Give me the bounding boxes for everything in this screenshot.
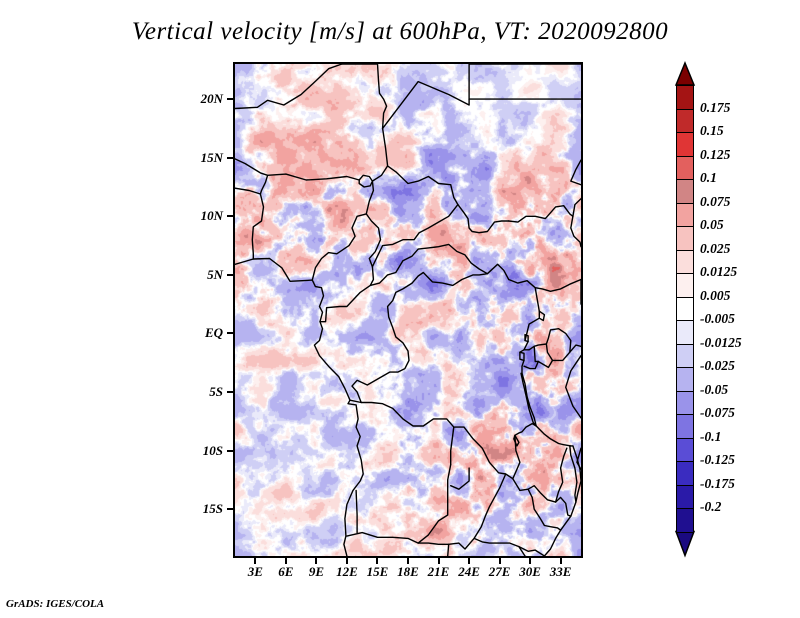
colorbar-tick-label: 0.075	[700, 194, 730, 210]
colorbar-tick-label: 0.05	[700, 217, 724, 233]
country-borders-overlay	[235, 64, 581, 556]
colorbar-tick-label: -0.2	[700, 499, 721, 515]
y-tick-mark	[227, 98, 233, 100]
border-path	[509, 206, 573, 222]
border-path	[418, 465, 451, 543]
border-path	[312, 214, 366, 280]
border-path	[451, 427, 454, 465]
colorbar-swatch[interactable]	[676, 344, 694, 369]
colorbar-tick-label: -0.005	[700, 311, 735, 327]
border-path	[350, 400, 520, 490]
y-tick-label: 15N	[181, 150, 223, 166]
border-path	[521, 373, 536, 426]
border-path	[356, 490, 357, 532]
colorbar-swatch[interactable]	[676, 461, 694, 486]
x-tick-mark	[529, 558, 531, 564]
colorbar-tick-label: 0.15	[700, 123, 724, 139]
border-path	[522, 360, 524, 373]
x-tick-label: 33E	[539, 564, 583, 580]
border-path	[520, 486, 571, 517]
colorbar-swatch[interactable]	[676, 438, 694, 463]
colorbar-swatch[interactable]	[676, 508, 694, 533]
border-path	[370, 244, 508, 285]
colorbar-swatch[interactable]	[676, 391, 694, 416]
border-path	[571, 160, 581, 185]
colorbar-tick-label: 0.125	[700, 147, 730, 163]
colorbar-tick-label: -0.175	[700, 476, 735, 492]
colorbar-tick-label: -0.025	[700, 358, 735, 374]
colorbar-tick-label: 0.1	[700, 170, 717, 186]
colorbar-tick-label: -0.125	[700, 452, 735, 468]
y-tick-label: 20N	[181, 91, 223, 107]
y-tick-mark	[227, 157, 233, 159]
border-path	[535, 288, 539, 312]
colorbar-tick-label: 0.0125	[700, 264, 737, 280]
colorbar-swatch[interactable]	[676, 250, 694, 275]
border-path	[538, 360, 552, 367]
y-tick-label: 10N	[181, 208, 223, 224]
colorbar-swatch[interactable]	[676, 273, 694, 298]
colorbar-swatch[interactable]	[676, 297, 694, 322]
y-tick-label: 15S	[181, 501, 223, 517]
border-path	[474, 474, 506, 538]
border-path	[448, 544, 449, 556]
colorbar-tick-label: 0.025	[700, 241, 730, 257]
colorbar-extend-bottom	[676, 532, 694, 556]
border-path	[525, 318, 539, 340]
colorbar-swatch[interactable]	[676, 179, 694, 204]
border-path	[383, 128, 509, 232]
y-tick-mark	[227, 450, 233, 452]
x-tick-mark	[254, 558, 256, 564]
colorbar-swatch[interactable]	[676, 203, 694, 228]
colorbar-extend-top	[676, 63, 694, 85]
colorbar-swatch[interactable]	[676, 226, 694, 251]
border-path	[556, 448, 567, 502]
y-tick-label: 5N	[181, 267, 223, 283]
border-path	[573, 199, 581, 217]
colorbar[interactable]: 0.1750.150.1250.10.0750.050.0250.01250.0…	[668, 58, 798, 558]
border-path	[539, 311, 544, 320]
y-tick-label: EQ	[181, 325, 223, 341]
border-path	[359, 175, 372, 187]
border-path	[520, 352, 524, 360]
colorbar-swatch[interactable]	[676, 132, 694, 157]
border-path	[536, 426, 571, 446]
border-path	[235, 159, 268, 194]
border-path	[252, 194, 263, 259]
colorbar-swatch[interactable]	[676, 320, 694, 345]
colorbar-swatch[interactable]	[676, 485, 694, 510]
border-path	[235, 64, 342, 109]
border-path	[570, 345, 581, 352]
colorbar-tick-label: -0.0125	[700, 335, 742, 351]
border-path	[546, 329, 570, 361]
border-path	[342, 64, 387, 128]
colorbar-swatch[interactable]	[676, 156, 694, 181]
y-tick-mark	[227, 508, 233, 510]
y-tick-label: 5S	[181, 384, 223, 400]
border-path	[571, 216, 581, 246]
y-tick-mark	[227, 332, 233, 334]
border-path	[451, 468, 469, 489]
colorbar-tick-label: 0.005	[700, 288, 730, 304]
border-path	[566, 356, 581, 418]
y-tick-mark	[227, 274, 233, 276]
border-path	[513, 424, 536, 479]
border-path	[524, 344, 546, 350]
x-tick-mark	[438, 558, 440, 564]
border-path	[372, 166, 387, 181]
border-path	[372, 205, 458, 267]
colorbar-tick-label: -0.1	[700, 429, 721, 445]
x-tick-mark	[560, 558, 562, 564]
colorbar-tick-label: -0.05	[700, 382, 728, 398]
x-tick-mark	[499, 558, 501, 564]
border-path	[320, 181, 381, 322]
x-tick-mark	[376, 558, 378, 564]
x-tick-mark	[315, 558, 317, 564]
colorbar-swatch[interactable]	[676, 367, 694, 392]
y-tick-mark	[227, 215, 233, 217]
colorbar-tick-label: 0.175	[700, 100, 730, 116]
border-path	[352, 273, 487, 403]
colorbar-swatch[interactable]	[676, 414, 694, 439]
colorbar-swatch[interactable]	[676, 85, 694, 110]
border-path	[509, 280, 581, 292]
x-tick-mark	[285, 558, 287, 564]
page-title: Vertical velocity [m/s] at 600hPa, VT: 2…	[0, 18, 800, 46]
grads-credit: GrADS: IGES/COLA	[6, 598, 104, 610]
y-tick-label: 10S	[181, 443, 223, 459]
border-path	[520, 342, 528, 353]
border-path	[268, 174, 360, 180]
x-tick-mark	[407, 558, 409, 564]
border-path	[235, 259, 363, 557]
colorbar-tick-label: -0.075	[700, 405, 735, 421]
grads-figure: Vertical velocity [m/s] at 600hPa, VT: 2…	[0, 0, 800, 618]
border-path	[347, 533, 525, 556]
border-path	[528, 489, 561, 530]
x-tick-mark	[468, 558, 470, 564]
x-tick-mark	[346, 558, 348, 564]
y-tick-mark	[227, 391, 233, 393]
border-path	[383, 64, 470, 128]
map-plot-area[interactable]	[233, 62, 583, 558]
colorbar-swatch[interactable]	[676, 109, 694, 134]
